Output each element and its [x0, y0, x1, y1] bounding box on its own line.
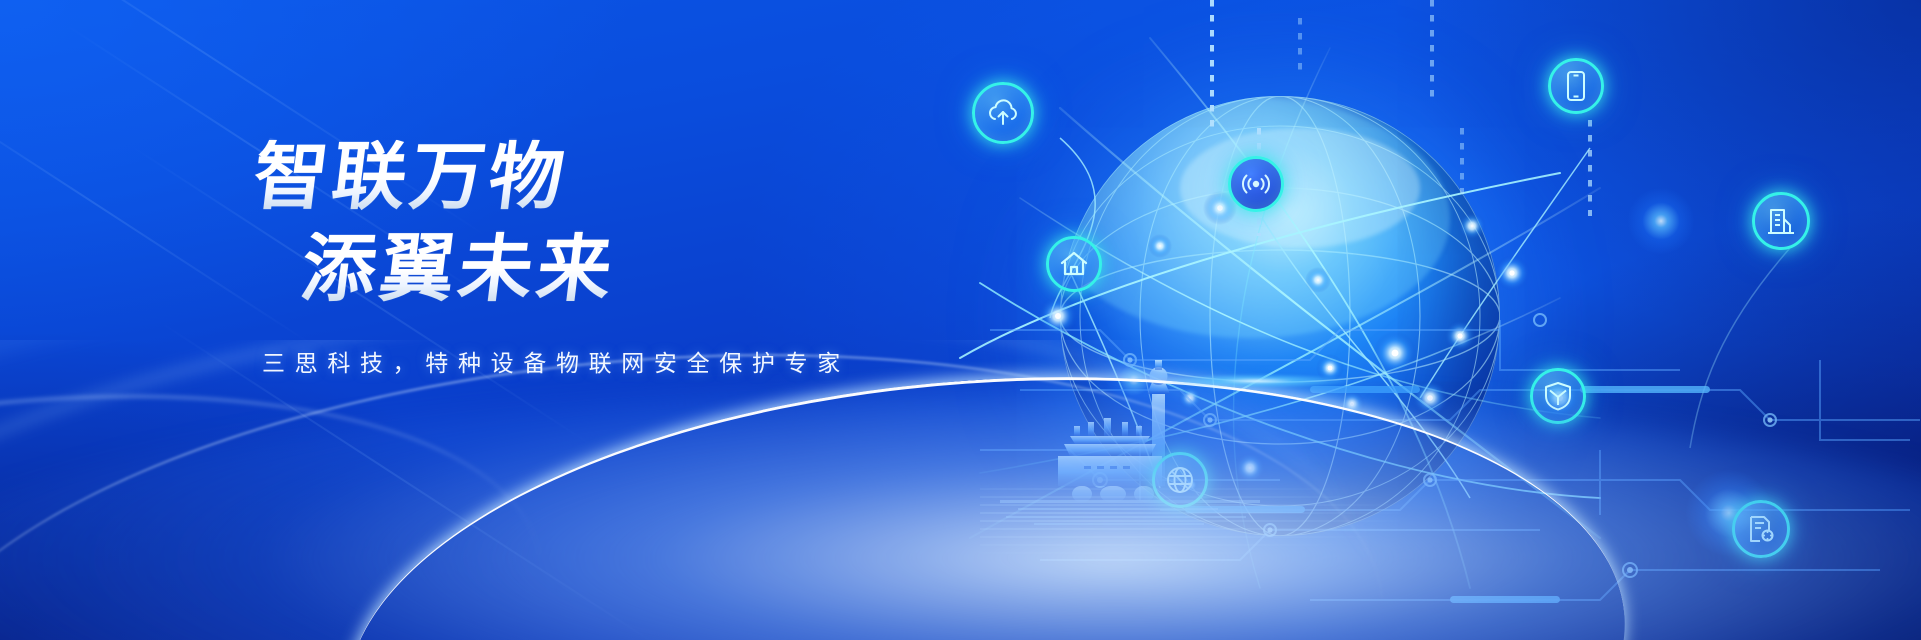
city-skyline-silhouette [1000, 360, 1260, 530]
home-icon[interactable] [1046, 236, 1102, 292]
hero-banner: 智联万物 添翼未来 三思科技，特种设备物联网安全保护专家 [0, 0, 1921, 640]
headline-block: 智联万物 添翼未来 三思科技，特种设备物联网安全保护专家 [248, 140, 948, 378]
network-globe-icon[interactable] [1152, 452, 1208, 508]
cloud-upload-glyph [986, 99, 1020, 127]
shield-icon[interactable] [1530, 368, 1586, 424]
dotted-line-5 [1588, 120, 1592, 216]
home-glyph [1059, 250, 1089, 278]
smartphone-glyph [1565, 70, 1587, 102]
glow-halo-2 [1628, 188, 1694, 254]
dotted-line-6 [1298, 18, 1302, 72]
building-icon[interactable] [1752, 192, 1810, 250]
cloud-upload-icon[interactable] [972, 82, 1034, 144]
smartphone-icon[interactable] [1548, 58, 1604, 114]
wifi-signal-glyph [1240, 171, 1272, 197]
document-gear-icon[interactable] [1732, 500, 1790, 558]
network-globe-glyph [1165, 465, 1195, 495]
headline-subtitle: 三思科技，特种设备物联网安全保护专家 [262, 344, 948, 378]
headline-line-1: 智联万物 [249, 140, 952, 214]
shield-glyph [1544, 381, 1572, 411]
building-glyph [1766, 206, 1796, 236]
light-trail-5 [0, 340, 577, 640]
wifi-signal-icon[interactable] [1228, 156, 1284, 212]
document-gear-glyph [1746, 514, 1776, 544]
headline-line-2: 添翼未来 [297, 232, 952, 306]
